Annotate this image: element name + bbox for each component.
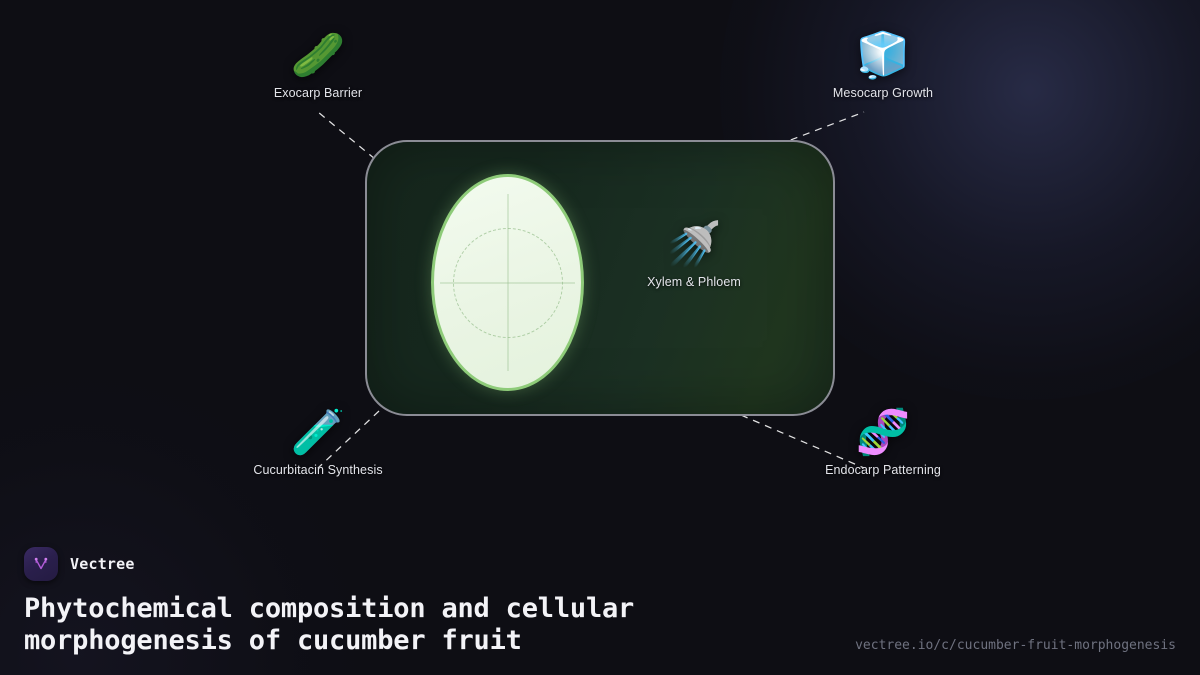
source-url: vectree.io/c/cucumber-fruit-morphogenesi… xyxy=(855,638,1176,653)
cucumber-icon: 🥒 xyxy=(291,32,346,80)
test-tube-icon: 🧪 xyxy=(291,409,346,457)
node-xylem-phloem[interactable]: 🚿 Xylem & Phloem xyxy=(579,221,809,289)
vectree-v-tree-icon xyxy=(24,547,58,581)
ice-cube-icon: 🧊 xyxy=(856,32,911,80)
logo-glyph xyxy=(31,554,51,574)
node-label: Exocarp Barrier xyxy=(274,86,362,100)
node-mesocarp-growth[interactable]: 🧊 Mesocarp Growth xyxy=(768,32,998,100)
brand[interactable]: Vectree xyxy=(24,547,135,581)
shower-icon: 🚿 xyxy=(667,221,722,269)
node-label: Cucurbitacin Synthesis xyxy=(253,463,382,477)
diagram-stage: 🥒 Exocarp Barrier 🧊 Mesocarp Growth 🚿 Xy… xyxy=(0,0,1200,505)
node-exocarp-barrier[interactable]: 🥒 Exocarp Barrier xyxy=(203,32,433,100)
node-cucurbitacin-synthesis[interactable]: 🧪 Cucurbitacin Synthesis xyxy=(203,409,433,477)
core-inner-dashed-ring xyxy=(453,228,563,338)
page-title: Phytochemical composition and cellular m… xyxy=(24,593,824,657)
node-label: Xylem & Phloem xyxy=(647,275,741,289)
dna-icon: 🧬 xyxy=(856,409,911,457)
footer: Vectree Phytochemical composition and ce… xyxy=(0,505,1200,675)
node-label: Endocarp Patterning xyxy=(825,463,941,477)
brand-name: Vectree xyxy=(70,555,135,573)
node-label: Mesocarp Growth xyxy=(833,86,933,100)
node-endocarp-patterning[interactable]: 🧬 Endocarp Patterning xyxy=(768,409,998,477)
fruit-core-ellipse xyxy=(431,174,584,391)
